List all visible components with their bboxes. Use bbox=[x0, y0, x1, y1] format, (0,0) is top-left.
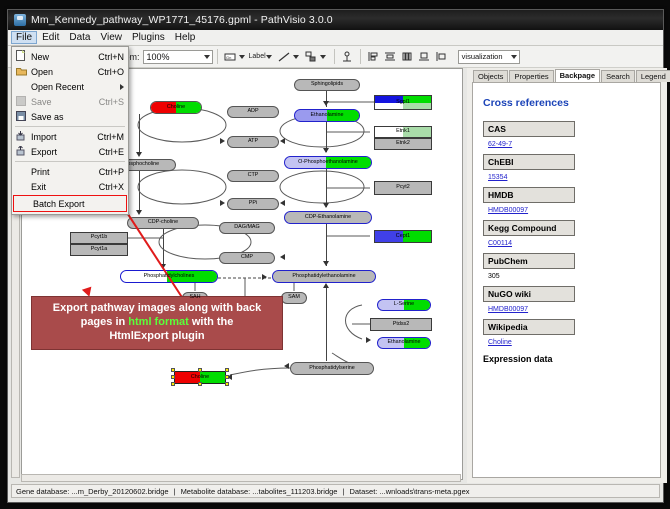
visualization-value: visualization bbox=[462, 52, 503, 61]
chevron-down-icon-2 bbox=[511, 55, 517, 59]
menu-item-shortcut: Ctrl+S bbox=[99, 97, 124, 107]
callout-line-3: HtmlExport plugin bbox=[53, 330, 261, 344]
zoom-value: 100% bbox=[147, 52, 170, 62]
node-label: Ptdss2 bbox=[393, 322, 409, 327]
edge-cdpetn-ptdetn bbox=[326, 224, 327, 266]
submenu-arrow-icon bbox=[120, 84, 124, 90]
arrowhead-ptdserine bbox=[284, 363, 289, 369]
node-pcyt1a[interactable]: Pcyt1a bbox=[70, 244, 128, 256]
menu-item-label: Import bbox=[31, 132, 97, 142]
selection-handle-w[interactable] bbox=[171, 375, 175, 379]
node-label: Choline bbox=[191, 375, 209, 380]
tab-backpage[interactable]: Backpage bbox=[555, 69, 600, 82]
node-label: CDP-Ethanolamine bbox=[305, 215, 351, 220]
node-cept1[interactable]: Cept1 bbox=[374, 230, 432, 243]
xref-value-chebi: 15354 bbox=[488, 174, 660, 181]
xref-link-cas[interactable]: 62-49-7 bbox=[488, 141, 512, 148]
align-right-tool-icon[interactable] bbox=[434, 49, 449, 64]
menu-item-open-recent[interactable]: Open Recent bbox=[12, 79, 128, 94]
menu-edit[interactable]: Edit bbox=[37, 31, 64, 44]
window-title: Mm_Kennedy_pathway_WP1771_45176.gpml - P… bbox=[31, 14, 333, 26]
node-label: CDP-choline bbox=[148, 220, 178, 225]
svg-text:Gn: Gn bbox=[226, 55, 231, 60]
xref-label-pubchem: PubChem bbox=[483, 253, 575, 269]
side-panel: Objects Properties Backpage Search Legen… bbox=[467, 68, 667, 483]
arrowhead-sam bbox=[262, 274, 267, 280]
status-bar: Gene database: ...m_Derby_20120602.bridg… bbox=[11, 484, 660, 498]
selection-handle-nw[interactable] bbox=[171, 368, 175, 372]
canvas-horizontal-scrollbar[interactable] bbox=[21, 474, 461, 482]
menu-item-shortcut: Ctrl+P bbox=[99, 167, 124, 177]
node-phosphatidylcholines[interactable]: Phosphatidylcholines bbox=[120, 270, 218, 283]
node-ethanolamine[interactable]: Ethanolamine bbox=[294, 109, 360, 122]
tab-search[interactable]: Search bbox=[601, 70, 635, 82]
status-sep-1: | bbox=[174, 487, 176, 496]
tab-objects[interactable]: Objects bbox=[473, 70, 508, 82]
edge-ophospho-cdpetn bbox=[326, 169, 327, 207]
align-center-tool-icon[interactable] bbox=[383, 49, 398, 64]
align-bottom-tool-icon[interactable] bbox=[417, 49, 432, 64]
node-label: L-Serine bbox=[394, 302, 414, 307]
menu-item-print[interactable]: Print Ctrl+P bbox=[12, 164, 128, 179]
xref-value-hmdb: HMDB00097 bbox=[488, 207, 660, 214]
xref-label-wikipedia: Wikipedia bbox=[483, 319, 575, 335]
menu-item-label: New bbox=[31, 52, 98, 62]
node-label: Ethanolamine bbox=[311, 113, 344, 118]
arrowhead-cmp-right bbox=[280, 254, 285, 260]
menu-item-open[interactable]: Open Ctrl+O bbox=[12, 64, 128, 79]
menu-item-save-as[interactable]: Save as bbox=[12, 109, 128, 124]
menu-item-label: Open Recent bbox=[31, 82, 120, 92]
align-left-tool-icon[interactable] bbox=[366, 49, 381, 64]
selection-handle-s[interactable] bbox=[198, 382, 202, 386]
menu-plugins[interactable]: Plugins bbox=[127, 31, 170, 44]
xref-label-nugo: NuGO wiki bbox=[483, 286, 575, 302]
node-l-serine[interactable]: L-Serine bbox=[377, 299, 431, 311]
node-label: DAG/MAG bbox=[234, 225, 259, 230]
status-metabolite-database: Metabolite database: ...tabolites_111203… bbox=[181, 487, 338, 496]
xref-value-cas: 62-49-7 bbox=[488, 141, 660, 148]
node-adp[interactable]: ADP bbox=[227, 106, 279, 118]
arrowhead-cdpetn bbox=[323, 203, 329, 208]
tab-legend[interactable]: Legend bbox=[636, 70, 670, 82]
callout-line-2: pages in html format with the bbox=[53, 316, 261, 330]
menu-item-export[interactable]: Export Ctrl+E bbox=[12, 144, 128, 159]
application-icon bbox=[14, 14, 26, 26]
edge-ptdserine-ptdetn bbox=[326, 285, 327, 361]
file-menu-dropdown: New Ctrl+N Open Ctrl+O Open Recent Save … bbox=[11, 46, 129, 215]
xref-value-wikipedia: Choline bbox=[488, 339, 660, 346]
menu-file[interactable]: File bbox=[11, 31, 37, 44]
node-label: Etnk1 bbox=[396, 129, 410, 134]
node-label: Phosphatidylcholines bbox=[144, 274, 195, 279]
pathvisio-window: Mm_Kennedy_pathway_WP1771_45176.gpml - P… bbox=[7, 9, 664, 503]
callout-highlight: html format bbox=[128, 316, 189, 328]
node-label: SAH bbox=[189, 295, 200, 300]
node-label: Pcyt2 bbox=[396, 185, 409, 190]
menu-bar: File Edit Data View Plugins Help bbox=[8, 30, 663, 46]
xref-group-kegg: Kegg Compound C00114 bbox=[483, 220, 660, 247]
backpage-content: Cross references CAS 62-49-7 ChEBI 15354… bbox=[472, 82, 661, 478]
callout-line-2-pre: pages in bbox=[81, 316, 129, 328]
node-label: Choline bbox=[167, 105, 185, 110]
line-tool-icon[interactable] bbox=[277, 49, 292, 64]
node-label: O-Phosphoethanolamine bbox=[298, 160, 358, 165]
datanode-tool-icon[interactable]: Gn bbox=[223, 49, 238, 64]
xref-link-chebi[interactable]: 15354 bbox=[488, 174, 507, 181]
xref-group-hmdb: HMDB HMDB00097 bbox=[483, 187, 660, 214]
toolbar-separator bbox=[217, 49, 218, 64]
menu-item-exit[interactable]: Exit Ctrl+X bbox=[12, 179, 128, 194]
node-label: PPi bbox=[249, 201, 257, 206]
callout-line-1: Export pathway images along with back bbox=[53, 302, 261, 316]
arrowhead-ethanolamine bbox=[323, 101, 329, 106]
menu-item-save: Save Ctrl+S bbox=[12, 94, 128, 109]
selection-handle-n[interactable] bbox=[198, 368, 202, 372]
menu-item-label: Open bbox=[31, 67, 98, 77]
xref-link-hmdb[interactable]: HMDB00097 bbox=[488, 207, 528, 214]
arrowhead-ethanolamine2 bbox=[366, 337, 371, 343]
node-choline-top[interactable]: Choline bbox=[150, 101, 202, 114]
xref-label-kegg: Kegg Compound bbox=[483, 220, 575, 236]
node-cmp[interactable]: CMP bbox=[219, 252, 275, 264]
menu-item-label: Batch Export bbox=[33, 199, 122, 209]
xref-link-nugo[interactable]: HMDB00097 bbox=[488, 306, 528, 313]
menu-item-shortcut: Ctrl+E bbox=[99, 147, 124, 157]
menu-item-shortcut: Ctrl+X bbox=[99, 182, 124, 192]
menu-item-new[interactable]: New Ctrl+N bbox=[12, 49, 128, 64]
node-label: Cept1 bbox=[396, 234, 410, 239]
menu-item-shortcut: Ctrl+M bbox=[97, 132, 124, 142]
status-dataset: Dataset: ...wnloads\trans-meta.pgex bbox=[349, 487, 469, 496]
anchor-tool-icon[interactable] bbox=[340, 49, 355, 64]
menu-item-label: Exit bbox=[31, 182, 99, 192]
menu-item-label: Save as bbox=[31, 112, 124, 122]
annotation-callout: Export pathway images along with back pa… bbox=[31, 296, 283, 350]
arrowhead-atp-right bbox=[280, 138, 285, 144]
menu-separator-2 bbox=[15, 161, 125, 162]
node-label: ATP bbox=[248, 139, 258, 144]
node-dag-mag[interactable]: DAG/MAG bbox=[219, 222, 275, 234]
xref-link-kegg[interactable]: C00114 bbox=[488, 240, 512, 247]
arrowhead-ophospho bbox=[323, 148, 329, 153]
status-gene-database: Gene database: ...m_Derby_20120602.bridg… bbox=[16, 487, 169, 496]
node-sphingolipids[interactable]: Sphingolipids bbox=[294, 79, 360, 91]
node-sam[interactable]: SAM bbox=[281, 292, 307, 304]
node-ptdss2[interactable]: Ptdss2 bbox=[370, 318, 432, 331]
expression-data-heading: Expression data bbox=[483, 354, 660, 364]
menu-item-batch-export[interactable]: Batch Export bbox=[13, 195, 127, 212]
datanode-dropdown-icon[interactable] bbox=[239, 55, 245, 59]
node-sgpl1[interactable]: Sgpl1 bbox=[374, 95, 432, 110]
xref-value-kegg: C00114 bbox=[488, 240, 660, 247]
node-ctp[interactable]: CTP bbox=[227, 170, 279, 182]
menu-data[interactable]: Data bbox=[64, 31, 95, 44]
xref-label-chebi: ChEBI bbox=[483, 154, 575, 170]
node-label: Pcyt1b bbox=[91, 235, 107, 240]
node-pcyt1b[interactable]: Pcyt1b bbox=[70, 232, 128, 244]
window-titlebar: Mm_Kennedy_pathway_WP1771_45176.gpml - P… bbox=[8, 10, 663, 31]
xref-label-hmdb: HMDB bbox=[483, 187, 575, 203]
node-label: Ethanolamine bbox=[388, 340, 421, 345]
node-label: SAM bbox=[288, 295, 300, 300]
node-label: Sgpl1 bbox=[396, 100, 410, 105]
zoom-combobox[interactable]: 100% bbox=[143, 50, 213, 64]
label-dropdown-icon[interactable] bbox=[266, 55, 272, 59]
arrowhead-atp-left bbox=[220, 138, 225, 144]
node-atp[interactable]: ATP bbox=[227, 136, 279, 148]
node-ppi[interactable]: PPi bbox=[227, 198, 279, 210]
line-dropdown-icon[interactable] bbox=[293, 55, 299, 59]
node-label: Phosphatidylethanolamine bbox=[292, 274, 355, 279]
status-sep-2: | bbox=[342, 487, 344, 496]
arrowhead-ptdetn-up bbox=[323, 283, 329, 288]
xref-label-cas: CAS bbox=[483, 121, 575, 137]
selection-handle-se[interactable] bbox=[225, 382, 229, 386]
menu-item-shortcut: Ctrl+O bbox=[98, 67, 124, 77]
callout-line-2-post: with the bbox=[189, 316, 234, 328]
menu-item-import[interactable]: Import Ctrl+M bbox=[12, 129, 128, 144]
menu-view[interactable]: View bbox=[95, 31, 127, 44]
node-label: CMP bbox=[241, 255, 253, 260]
menu-item-label: Print bbox=[31, 167, 99, 177]
screenshot-frame: Mm_Kennedy_pathway_WP1771_45176.gpml - P… bbox=[0, 0, 670, 509]
xref-group-pubchem: PubChem 305 bbox=[483, 253, 660, 280]
node-label: CTP bbox=[248, 173, 259, 178]
shape-dropdown-icon[interactable] bbox=[320, 55, 326, 59]
node-o-phosphoethanolamine[interactable]: O-Phosphoethanolamine bbox=[284, 156, 372, 169]
menu-item-label: Save bbox=[31, 97, 99, 107]
visualization-combobox[interactable]: visualization bbox=[458, 50, 520, 64]
cross-references-heading: Cross references bbox=[483, 97, 660, 109]
arrowhead-ppi-left bbox=[220, 200, 225, 206]
node-pcyt2[interactable]: Pcyt2 bbox=[374, 181, 432, 195]
shape-tool-icon[interactable] bbox=[304, 49, 319, 64]
node-etnk2[interactable]: Etnk2 bbox=[374, 138, 432, 150]
toolbar-separator-2 bbox=[334, 49, 335, 64]
node-label: Etnk2 bbox=[396, 141, 410, 146]
tab-properties[interactable]: Properties bbox=[509, 70, 553, 82]
open-folder-icon bbox=[16, 63, 28, 81]
xref-value-nugo: HMDB00097 bbox=[488, 306, 660, 313]
node-label: Pcyt1a bbox=[91, 247, 107, 252]
xref-group-nugo: NuGO wiki HMDB00097 bbox=[483, 286, 660, 313]
node-label: ADP bbox=[247, 109, 258, 114]
node-phosphatidylserine[interactable]: Phosphatidylserine bbox=[290, 362, 374, 375]
selection-handle-e[interactable] bbox=[225, 375, 229, 379]
label-tool-label[interactable]: Label bbox=[249, 53, 266, 60]
selection-handle-sw[interactable] bbox=[171, 382, 175, 386]
export-icon bbox=[16, 143, 28, 161]
node-label: Phosphatidylserine bbox=[309, 366, 355, 371]
menu-separator-1 bbox=[15, 126, 125, 127]
xref-link-wikipedia[interactable]: Choline bbox=[488, 339, 512, 346]
align-middle-tool-icon[interactable] bbox=[400, 49, 415, 64]
side-panel-tabs: Objects Properties Backpage Search Legen… bbox=[467, 68, 667, 82]
menu-item-shortcut: Ctrl+N bbox=[98, 52, 124, 62]
selection-handle-ne[interactable] bbox=[225, 368, 229, 372]
arrowhead-ptdetn bbox=[323, 261, 329, 266]
node-phosphatidylethanolamine[interactable]: Phosphatidylethanolamine bbox=[272, 270, 376, 283]
chevron-down-icon bbox=[204, 55, 210, 59]
arrowhead-ppi-right bbox=[280, 200, 285, 206]
node-label: Sphingolipids bbox=[311, 82, 343, 87]
save-disk-icon bbox=[16, 93, 28, 111]
node-cdp-ethanolamine[interactable]: CDP-Ethanolamine bbox=[284, 211, 372, 224]
xref-group-wikipedia: Wikipedia Choline bbox=[483, 319, 660, 346]
node-etnk1[interactable]: Etnk1 bbox=[374, 126, 432, 138]
node-ethanolamine-2[interactable]: Ethanolamine bbox=[377, 337, 431, 349]
xref-group-cas: CAS 62-49-7 bbox=[483, 121, 660, 148]
menu-help[interactable]: Help bbox=[170, 31, 201, 44]
menu-item-label: Export bbox=[31, 147, 99, 157]
toolbar-separator-3 bbox=[360, 49, 361, 64]
xref-value-pubchem: 305 bbox=[488, 273, 660, 280]
xref-group-chebi: ChEBI 15354 bbox=[483, 154, 660, 181]
